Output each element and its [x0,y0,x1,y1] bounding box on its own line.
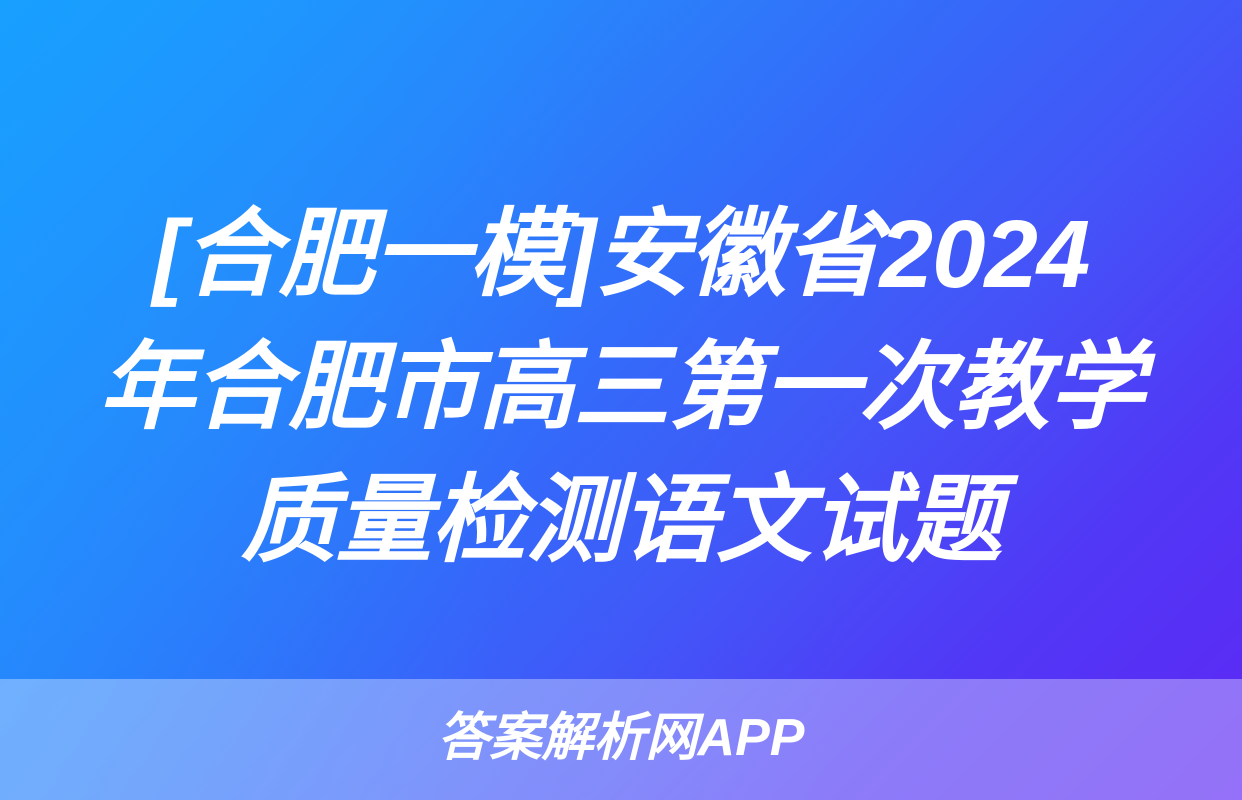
title-line-3: 质量检测语文试题 [0,454,1242,587]
watermark-band: 答案解析网APP [0,679,1242,800]
title-line-1: [合肥一模]安徽省2024 [0,188,1242,321]
title-line-2: 年合肥市高三第一次教学 [0,321,1242,454]
watermark-label: 答案解析网APP [438,712,805,764]
poster-canvas: [合肥一模]安徽省2024 年合肥市高三第一次教学 质量检测语文试题 答案解析网… [0,0,1242,800]
page-title: [合肥一模]安徽省2024 年合肥市高三第一次教学 质量检测语文试题 [0,188,1242,587]
